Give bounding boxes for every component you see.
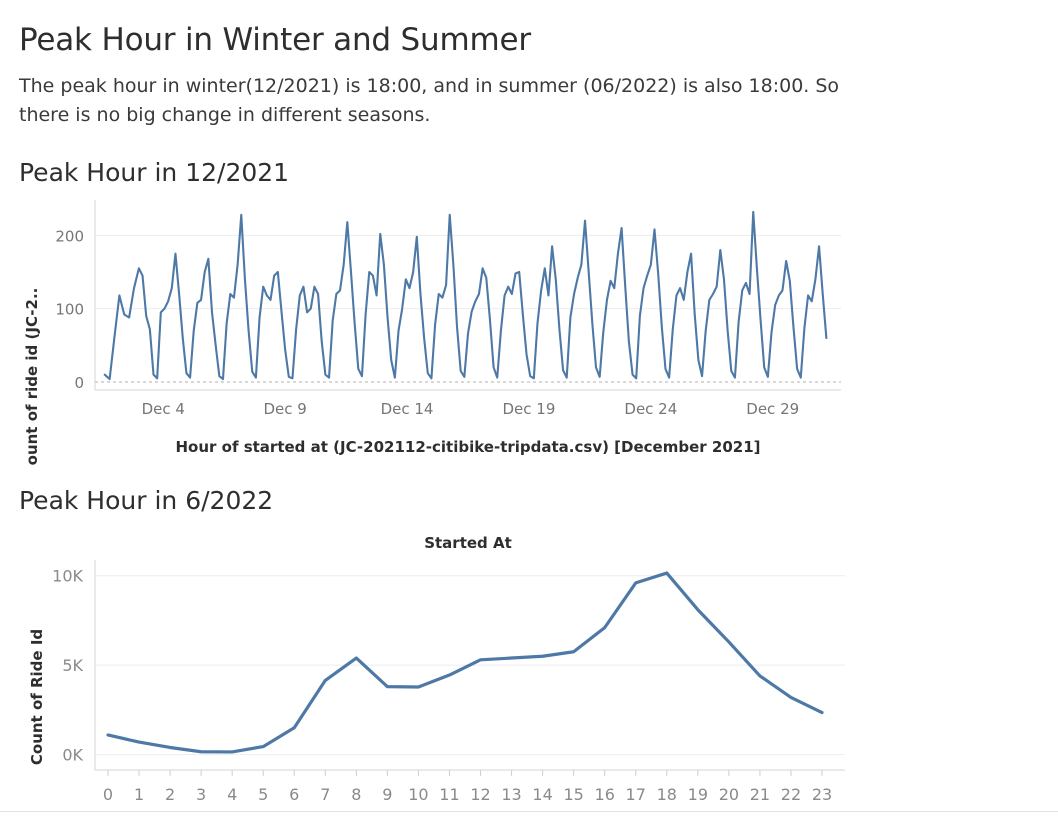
bottom-divider <box>0 811 1058 812</box>
svg-text:9: 9 <box>382 785 392 804</box>
summer-x-tick-marks <box>108 770 822 776</box>
summer-y-axis-title: Count of Ride Id <box>28 629 46 765</box>
svg-text:17: 17 <box>626 785 646 804</box>
svg-text:Dec 29: Dec 29 <box>746 400 799 418</box>
svg-text:4: 4 <box>227 785 237 804</box>
summer-chart-svg: Started At 0K5K10K 012345678910111213141… <box>0 522 1058 812</box>
dashboard-page: Peak Hour in Winter and Summer The peak … <box>0 0 1058 818</box>
svg-text:2: 2 <box>165 785 175 804</box>
svg-text:10K: 10K <box>52 567 83 586</box>
winter-y-axis-title: Count of ride id (JC-2.. <box>23 288 41 466</box>
winter-x-tick-labels: Dec 4Dec 9Dec 14Dec 19Dec 24Dec 29 <box>142 400 800 418</box>
dashboard-subtitle: The peak hour in winter(12/2021) is 18:0… <box>19 72 849 130</box>
summer-line-chart[interactable]: Started At 0K5K10K 012345678910111213141… <box>0 522 1058 812</box>
svg-text:0: 0 <box>74 374 84 392</box>
winter-gridlines <box>95 235 841 308</box>
svg-text:3: 3 <box>196 785 206 804</box>
svg-text:13: 13 <box>501 785 521 804</box>
sheet-title-winter: Peak Hour in 12/2021 <box>19 158 289 187</box>
dashboard-title: Peak Hour in Winter and Summer <box>19 22 531 58</box>
svg-text:20: 20 <box>719 785 739 804</box>
svg-text:Dec 4: Dec 4 <box>142 400 185 418</box>
svg-text:0: 0 <box>103 785 113 804</box>
svg-text:16: 16 <box>595 785 615 804</box>
winter-chart-svg: 0100200 Dec 4Dec 9Dec 14Dec 19Dec 24Dec … <box>0 196 1058 466</box>
svg-text:19: 19 <box>688 785 708 804</box>
winter-x-axis-title: Hour of started at (JC-202112-citibike-t… <box>176 438 761 456</box>
winter-axis-lines <box>95 200 841 390</box>
svg-text:100: 100 <box>55 301 84 319</box>
svg-text:8: 8 <box>351 785 361 804</box>
summer-series-path <box>108 573 822 752</box>
svg-text:5K: 5K <box>62 656 83 675</box>
svg-text:12: 12 <box>470 785 490 804</box>
svg-text:10: 10 <box>408 785 428 804</box>
sheet-title-summer: Peak Hour in 6/2022 <box>19 486 273 515</box>
winter-series-path <box>105 212 827 379</box>
svg-text:1: 1 <box>134 785 144 804</box>
svg-text:0K: 0K <box>62 746 83 765</box>
svg-text:6: 6 <box>289 785 299 804</box>
svg-text:22: 22 <box>781 785 801 804</box>
svg-text:Dec 14: Dec 14 <box>381 400 434 418</box>
svg-text:Dec 19: Dec 19 <box>503 400 556 418</box>
svg-text:5: 5 <box>258 785 268 804</box>
summer-x-tick-labels: 01234567891011121314151617181920212223 <box>103 785 832 804</box>
svg-text:Dec 24: Dec 24 <box>624 400 677 418</box>
svg-text:18: 18 <box>657 785 677 804</box>
svg-text:11: 11 <box>439 785 459 804</box>
summer-y-tick-labels: 0K5K10K <box>52 567 83 765</box>
svg-text:Dec 9: Dec 9 <box>263 400 306 418</box>
winter-line-chart[interactable]: 0100200 Dec 4Dec 9Dec 14Dec 19Dec 24Dec … <box>0 196 1058 466</box>
svg-text:14: 14 <box>532 785 552 804</box>
svg-text:21: 21 <box>750 785 770 804</box>
summer-chart-header: Started At <box>424 534 512 552</box>
svg-text:15: 15 <box>563 785 583 804</box>
svg-text:7: 7 <box>320 785 330 804</box>
svg-text:23: 23 <box>812 785 832 804</box>
winter-y-tick-labels: 0100200 <box>55 227 84 392</box>
svg-text:200: 200 <box>55 227 84 245</box>
